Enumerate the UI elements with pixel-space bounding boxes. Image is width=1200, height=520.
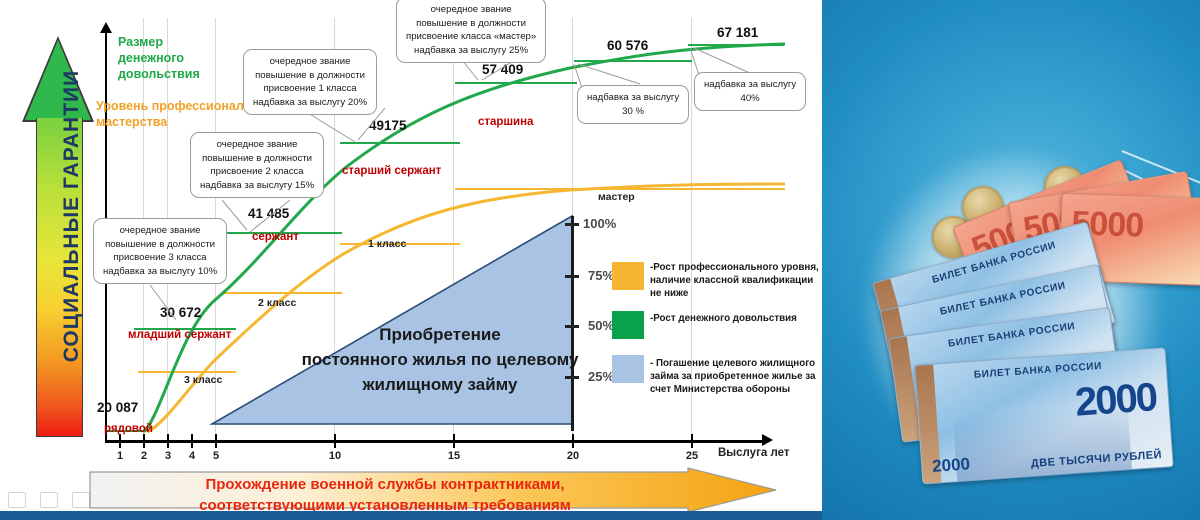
- y-title-skill-line-2: мастерства: [96, 114, 326, 130]
- social-guarantees-arrow: СОЦИАЛЬНЫЕ ГАРАНТИИ: [22, 18, 94, 438]
- callout-15-line-1: очередное звание: [200, 138, 314, 152]
- rank-label-st-serzhant: старший сержант: [342, 165, 441, 177]
- callout-bonus-25: очередное звание повышение в должности п…: [396, 0, 546, 63]
- legend-text-housing: - Погашение целевого жилищного займа за …: [650, 357, 822, 396]
- callout-25-line-1: очередное звание: [406, 3, 536, 17]
- class-label-3: 3 класс: [184, 374, 222, 386]
- x-label-15: 15: [448, 450, 460, 462]
- pay-value-41485: 41 485: [248, 206, 289, 221]
- rank-label-ryadovoy: рядовой: [104, 423, 153, 435]
- callout-bonus-15: очередное звание повышение в должности п…: [190, 132, 324, 198]
- notes-icon[interactable]: [40, 492, 58, 508]
- percent-tick-75: [565, 275, 579, 278]
- skill-step-3class: [138, 371, 236, 373]
- taskbar-strip: [0, 511, 822, 520]
- banknotes-photo: 5000 5000 5000 БИЛЕТ БАНКА РОССИИ БИЛЕТ …: [822, 0, 1200, 520]
- callout-15-line-2: повышение в должности: [200, 152, 314, 166]
- pay-value-60576: 60 576: [607, 38, 648, 53]
- x-tick-2: [143, 434, 145, 448]
- class-label-2: 2 класс: [258, 297, 296, 309]
- x-axis-title: Выслуга лет: [718, 447, 789, 459]
- pay-value-49175: 49175: [369, 118, 407, 133]
- callout-bonus-10: очередное звание повышение в должности п…: [93, 218, 227, 284]
- pen-icon[interactable]: [8, 492, 26, 508]
- legend-swatch-housing: [612, 355, 644, 383]
- callout-15-line-3: присвоение 2 класса: [200, 165, 314, 179]
- callout-10-line-1: очередное звание: [103, 224, 217, 238]
- x-tick-4: [191, 434, 193, 448]
- pay-value-20087: 20 087: [97, 400, 138, 415]
- callout-20-line-3: присвоение 1 класса: [253, 82, 367, 96]
- x-label-5: 5: [213, 450, 219, 462]
- triangle-caption: Приобретение постоянного жилья по целево…: [300, 322, 580, 397]
- next-slide-icon[interactable]: [72, 492, 90, 508]
- pay-value-30672: 30 672: [160, 305, 201, 320]
- legend-swatch-pay: [612, 311, 644, 339]
- x-tick-10: [334, 434, 336, 448]
- callout-25-line-3: присвоение класса «мастер»: [406, 30, 536, 44]
- x-tick-3: [167, 434, 169, 448]
- callout-10-line-3: присвоение 3 класса: [103, 251, 217, 265]
- percent-label-100: 100%: [583, 216, 616, 231]
- callout-10-line-4: надбавка за выслугу 10%: [103, 265, 217, 279]
- x-label-2: 2: [141, 450, 147, 462]
- x-label-3: 3: [165, 450, 171, 462]
- rank-label-serzhant: сержант: [252, 231, 299, 243]
- slide-root: СОЦИАЛЬНЫЕ ГАРАНТИИ Размер денежного дов…: [0, 0, 1200, 520]
- y-title-line-1: Размер: [118, 34, 268, 50]
- x-tick-15: [453, 434, 455, 448]
- callout-10-line-2: повышение в должности: [103, 238, 217, 252]
- legend-text-pay: -Рост денежного довольствия: [650, 312, 810, 325]
- callout-30-line-1: надбавка за выслугу: [587, 91, 679, 105]
- pay-value-57409: 57 409: [482, 62, 523, 77]
- callout-25-line-4: надбавка за выслугу 25%: [406, 44, 536, 58]
- x-label-25: 25: [686, 450, 698, 462]
- x-axis-line: [105, 440, 765, 443]
- bridge-illustration-front: [953, 403, 1132, 481]
- callout-20-line-4: надбавка за выслугу 20%: [253, 96, 367, 110]
- percent-label-25: 25%: [588, 369, 614, 384]
- social-guarantees-label: СОЦИАЛЬНЫЕ ГАРАНТИИ: [60, 56, 84, 376]
- legend-text-skill: -Рост профессионального уровня, наличие …: [650, 261, 820, 300]
- class-label-master: мастер: [598, 191, 635, 203]
- x-tick-20: [572, 434, 574, 448]
- callout-40-line-2: 40%: [704, 92, 796, 106]
- callout-40-line-1: надбавка за выслугу: [704, 78, 796, 92]
- callout-20-line-2: повышение в должности: [253, 69, 367, 83]
- percent-label-75: 75%: [588, 268, 614, 283]
- callout-30-line-2: 30 %: [587, 105, 679, 119]
- banknote-2000-front: БИЛЕТ БАНКА РОССИИ 2000 ДВЕ ТЫСЯЧИ РУБЛЕ…: [914, 347, 1174, 484]
- x-axis-arrow-icon: [762, 434, 773, 446]
- triangle-line-1: Приобретение: [300, 322, 580, 347]
- percent-tick-50: [565, 325, 579, 328]
- banknote-2000-corner-value: 2000: [932, 454, 971, 477]
- banknote-header-front: БИЛЕТ БАНКА РОССИИ: [974, 361, 1103, 381]
- x-label-1: 1: [117, 450, 123, 462]
- x-tick-1: [119, 434, 121, 448]
- rank-label-starshina: старшина: [478, 116, 533, 128]
- rank-label-ml-serzhant: младший сержант: [128, 329, 231, 341]
- pay-step-starshina: [455, 82, 577, 84]
- x-label-10: 10: [329, 450, 341, 462]
- skill-step-2class: [222, 292, 342, 294]
- triangle-line-2: постоянного жилья по целевому: [300, 347, 580, 372]
- pay-value-67181: 67 181: [717, 25, 758, 40]
- percent-label-50: 50%: [588, 318, 614, 333]
- percent-tick-100: [565, 223, 579, 226]
- x-label-20: 20: [567, 450, 579, 462]
- callout-15-line-4: надбавка за выслугу 15%: [200, 179, 314, 193]
- triangle-line-3: жилищному займу: [300, 372, 580, 397]
- callout-bonus-40: надбавка за выслугу 40%: [694, 72, 806, 111]
- pay-step-bonus40: [688, 44, 784, 46]
- callout-bonus-20: очередное звание повышение в должности п…: [243, 49, 377, 115]
- x-tick-5: [215, 434, 217, 448]
- class-label-1: 1 класс: [368, 238, 406, 250]
- callout-20-line-1: очередное звание: [253, 55, 367, 69]
- pay-step-st-serzhant: [340, 142, 460, 144]
- percent-axis-line: [571, 216, 574, 431]
- skill-step-master: [455, 188, 785, 190]
- callout-bonus-30: надбавка за выслугу 30 %: [577, 85, 689, 124]
- pay-step-bonus30: [574, 60, 692, 62]
- banner-line-1: Прохождение военной службы контрактникам…: [150, 474, 620, 495]
- legend-swatch-skill: [612, 262, 644, 290]
- callout-25-line-2: повышение в должности: [406, 17, 536, 31]
- service-banner-text: Прохождение военной службы контрактникам…: [150, 474, 620, 516]
- x-tick-25: [691, 434, 693, 448]
- percent-tick-25: [565, 376, 579, 379]
- toolbar-icons: [8, 492, 90, 508]
- x-label-4: 4: [189, 450, 195, 462]
- chart-area: СОЦИАЛЬНЫЕ ГАРАНТИИ Размер денежного дов…: [0, 0, 822, 520]
